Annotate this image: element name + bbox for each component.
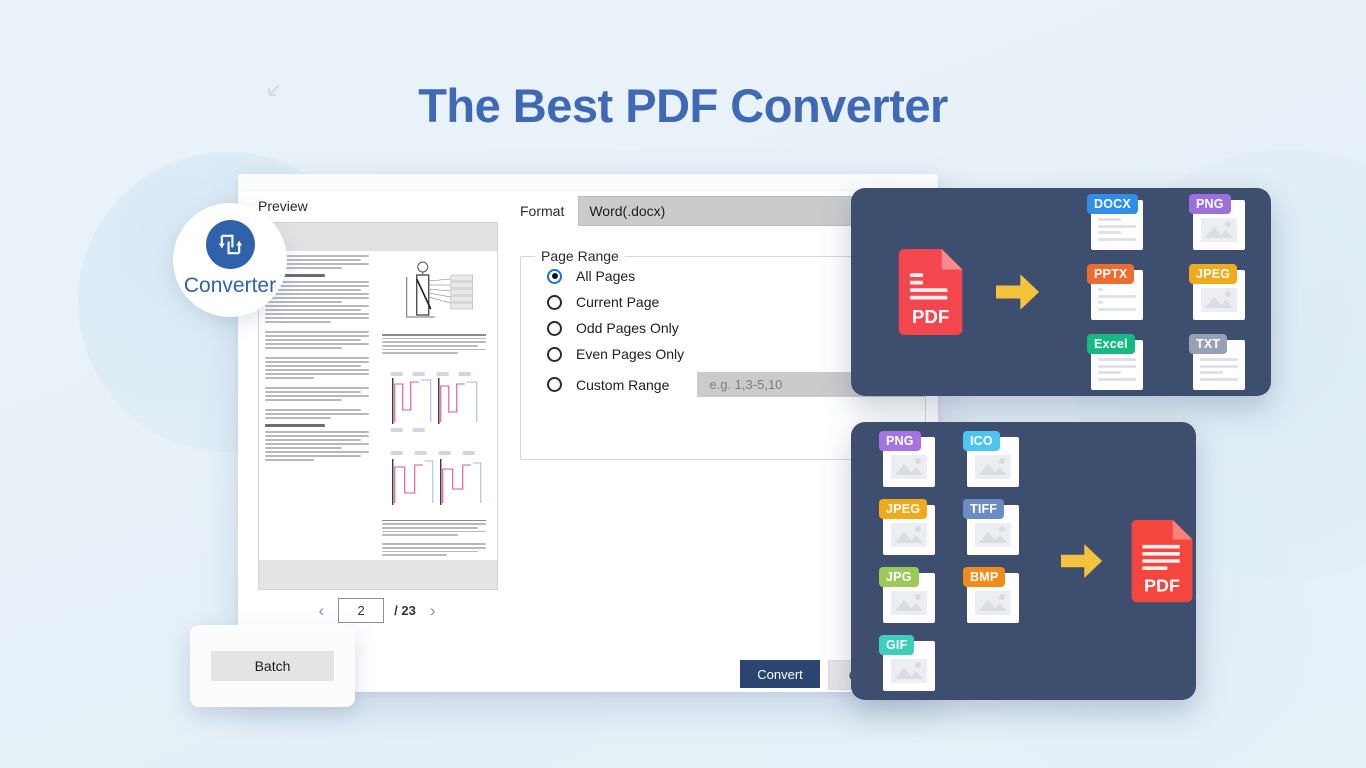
file-icon-ico[interactable]: ICO	[967, 431, 1023, 487]
document-preview[interactable]	[258, 222, 498, 590]
file-icon-pptx[interactable]: PPTX	[1091, 264, 1147, 320]
file-icon-png[interactable]: PNG	[883, 431, 939, 487]
window-titlebar	[238, 174, 938, 191]
page-range-legend: Page Range	[535, 248, 625, 264]
converter-badge: Converter	[173, 203, 287, 317]
next-page-button[interactable]: ›	[426, 601, 440, 621]
file-tag-label: JPEG	[1189, 264, 1237, 284]
pdf-file-icon: PDF	[1128, 515, 1196, 607]
file-tag-label: DOCX	[1087, 194, 1138, 214]
page-title: The Best PDF Converter	[0, 78, 1366, 133]
file-tag-label: TXT	[1189, 334, 1227, 354]
preview-page-content	[259, 251, 497, 560]
pdf-to-documents-panel: PDF DOCX PNG	[851, 188, 1271, 396]
preview-figure-charts	[382, 366, 492, 436]
preview-figure-charts-2	[382, 445, 492, 515]
file-tag-label: Excel	[1087, 334, 1135, 354]
page-total-label: / 23	[394, 603, 416, 618]
file-tag-label: GIF	[879, 635, 914, 655]
radio-indicator	[547, 347, 562, 362]
preview-bottom-band	[259, 560, 497, 589]
file-icon-png[interactable]: PNG	[1193, 194, 1249, 250]
radio-indicator	[547, 321, 562, 336]
file-icon-excel[interactable]: Excel	[1091, 334, 1147, 390]
format-label: Format	[520, 203, 564, 219]
preview-top-band	[259, 223, 497, 251]
file-tag-label: PPTX	[1087, 264, 1134, 284]
page-navigation: ‹ 2 / 23 ›	[258, 598, 496, 623]
page-number-input[interactable]: 2	[338, 598, 384, 623]
radio-label: Current Page	[576, 294, 659, 310]
file-icon-jpg[interactable]: JPG	[883, 567, 939, 623]
file-tag-label: PNG	[879, 431, 921, 451]
batch-button[interactable]: Batch	[211, 651, 334, 681]
format-select-value: Word(.docx)	[589, 203, 665, 219]
arrow-right-icon	[1061, 539, 1104, 583]
file-tag-label: JPEG	[879, 499, 927, 519]
file-icon-jpeg[interactable]: JPEG	[1193, 264, 1249, 320]
radio-label: All Pages	[576, 268, 635, 284]
convert-button[interactable]: Convert	[740, 660, 820, 688]
file-tag-label: PNG	[1189, 194, 1231, 214]
radio-label: Custom Range	[576, 377, 669, 393]
file-tag-label: JPG	[879, 567, 919, 587]
radio-label: Odd Pages Only	[576, 320, 679, 336]
preview-figure-diagram	[382, 259, 492, 329]
svg-text:PDF: PDF	[912, 306, 949, 327]
file-icon-tiff[interactable]: TIFF	[967, 499, 1023, 555]
file-tag-label: TIFF	[963, 499, 1004, 519]
radio-indicator	[547, 269, 562, 284]
prev-page-button[interactable]: ‹	[314, 601, 328, 621]
file-icon-jpeg[interactable]: JPEG	[883, 499, 939, 555]
radio-indicator	[547, 295, 562, 310]
radio-label: Even Pages Only	[576, 346, 684, 362]
convert-arrows-icon	[206, 220, 255, 269]
pdf-file-icon: PDF	[895, 246, 966, 338]
file-icon-docx[interactable]: DOCX	[1091, 194, 1147, 250]
source-format-grid: PNG ICO JPEG TIFF	[883, 431, 1037, 691]
svg-text:PDF: PDF	[1144, 575, 1180, 595]
batch-callout: Batch	[190, 625, 355, 707]
preview-label: Preview	[258, 198, 308, 214]
converter-label: Converter	[184, 274, 276, 298]
file-icon-txt[interactable]: TXT	[1193, 334, 1249, 390]
file-tag-label: ICO	[963, 431, 1000, 451]
radio-indicator	[547, 377, 562, 392]
file-tag-label: BMP	[963, 567, 1005, 587]
images-to-pdf-panel: PNG ICO JPEG TIFF	[851, 422, 1196, 700]
file-icon-bmp[interactable]: BMP	[967, 567, 1023, 623]
file-icon-gif[interactable]: GIF	[883, 635, 939, 691]
arrow-right-icon	[996, 270, 1041, 314]
target-format-grid: DOCX PNG PPTX JPEG	[1091, 194, 1271, 390]
screenshot-root: The Best PDF Converter Preview	[0, 0, 1366, 768]
